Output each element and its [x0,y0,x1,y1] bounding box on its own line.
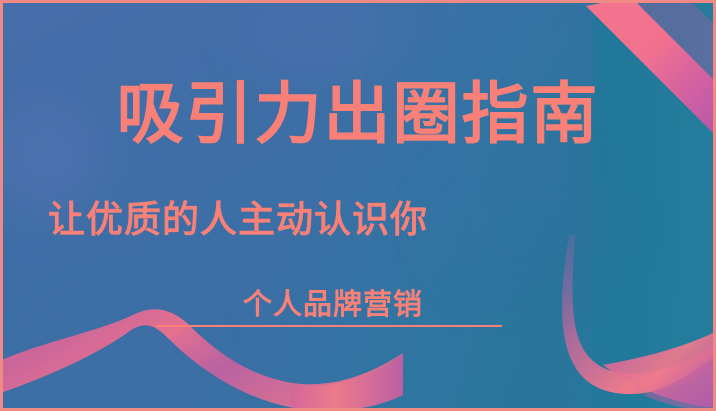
poster-text-layer: 吸引力出圈指南 让优质的人主动认识你 个人品牌营销 [3,3,713,408]
poster-inner-canvas: 吸引力出圈指南 让优质的人主动认识你 个人品牌营销 [3,3,713,408]
poster-canvas: 吸引力出圈指南 让优质的人主动认识你 个人品牌营销 [0,0,716,411]
page-tagline: 个人品牌营销 [3,290,663,319]
page-subtitle: 让优质的人主动认识你 [3,201,473,238]
tagline-underline-rule [157,325,502,327]
page-title: 吸引力出圈指南 [3,81,713,148]
